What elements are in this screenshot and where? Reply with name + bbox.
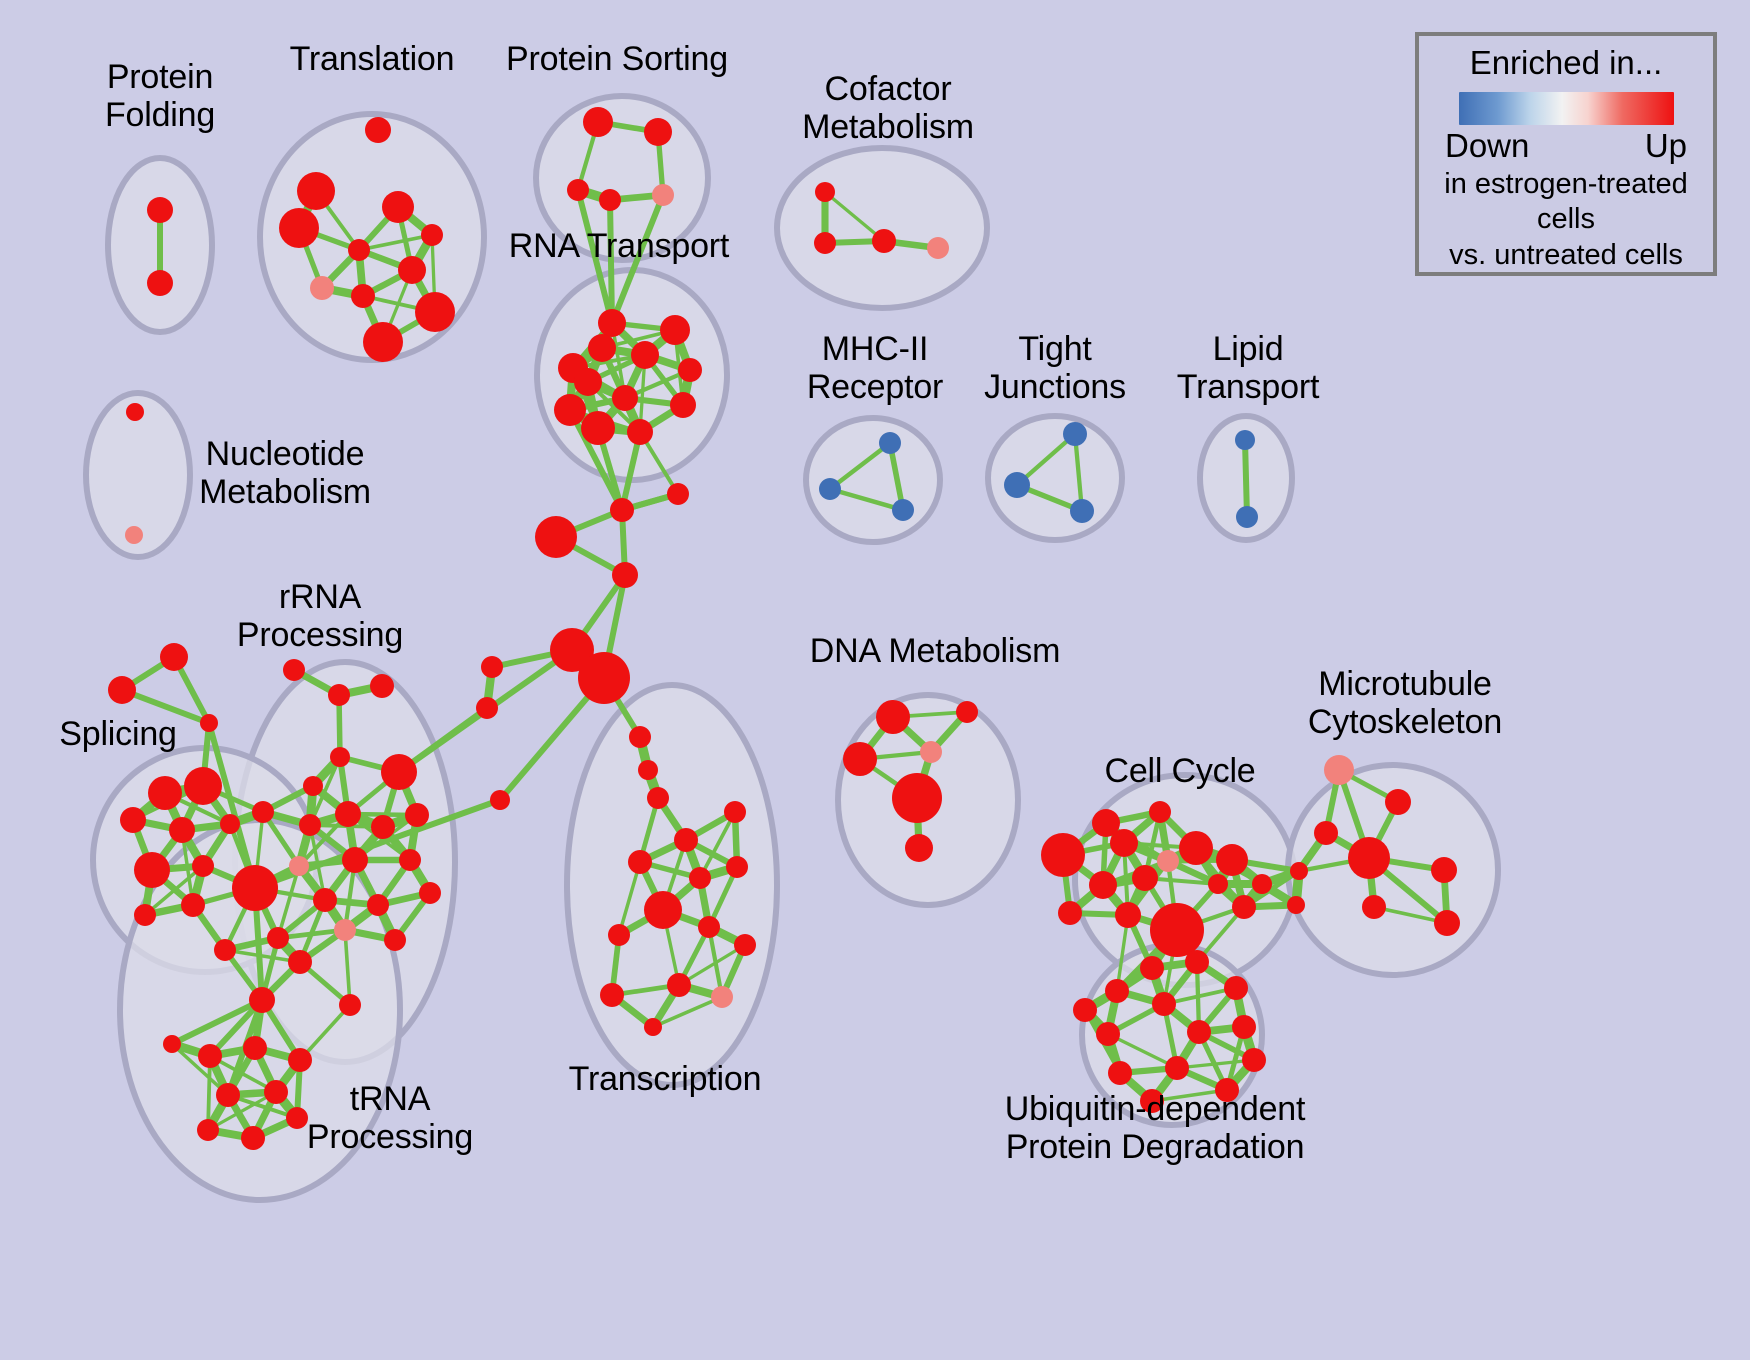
- gene-set-node[interactable]: [627, 419, 653, 445]
- gene-set-node[interactable]: [297, 172, 335, 210]
- gene-set-node[interactable]: [283, 659, 305, 681]
- gene-set-node[interactable]: [398, 256, 426, 284]
- gene-set-node[interactable]: [598, 309, 626, 337]
- gene-set-node[interactable]: [1324, 755, 1354, 785]
- gene-set-node[interactable]: [1362, 895, 1386, 919]
- cluster-label-cofactor-metabolism: Cofactor Metabolism: [753, 70, 1023, 146]
- cluster-label-transcription: Transcription: [525, 1060, 805, 1098]
- cluster-label-protein-folding: Protein Folding: [60, 58, 260, 134]
- gene-set-node[interactable]: [599, 189, 621, 211]
- gene-set-node[interactable]: [1434, 910, 1460, 936]
- gene-set-node[interactable]: [220, 814, 240, 834]
- gene-set-node[interactable]: [335, 801, 361, 827]
- gene-set-node[interactable]: [1235, 430, 1255, 450]
- gene-set-node[interactable]: [160, 643, 188, 671]
- gene-set-node[interactable]: [892, 499, 914, 521]
- network-figure: Protein FoldingTranslationProtein Sortin…: [0, 0, 1750, 1360]
- gene-set-node[interactable]: [956, 701, 978, 723]
- gene-set-node[interactable]: [644, 118, 672, 146]
- cluster-label-rna-transport: RNA Transport: [469, 227, 769, 265]
- gene-set-node[interactable]: [667, 483, 689, 505]
- gene-set-node[interactable]: [1348, 837, 1390, 879]
- gene-set-node[interactable]: [674, 828, 698, 852]
- gene-set-node[interactable]: [126, 403, 144, 421]
- gene-set-node[interactable]: [905, 834, 933, 862]
- gene-set-node[interactable]: [1110, 829, 1138, 857]
- gene-set-node[interactable]: [1115, 902, 1141, 928]
- gene-set-node[interactable]: [1385, 789, 1411, 815]
- gene-set-node[interactable]: [1185, 950, 1209, 974]
- gene-set-node[interactable]: [288, 1048, 312, 1072]
- gene-set-node[interactable]: [698, 916, 720, 938]
- gene-set-node[interactable]: [1140, 956, 1164, 980]
- gene-set-node[interactable]: [288, 950, 312, 974]
- gene-set-node[interactable]: [724, 801, 746, 823]
- gene-set-node[interactable]: [330, 747, 350, 767]
- gene-set-node[interactable]: [184, 767, 222, 805]
- gene-set-node[interactable]: [610, 498, 634, 522]
- legend-color-bar: [1459, 92, 1674, 125]
- gene-set-node[interactable]: [1252, 874, 1272, 894]
- cluster-label-dna-metabolism: DNA Metabolism: [775, 632, 1095, 670]
- gene-set-node[interactable]: [147, 197, 173, 223]
- gene-set-node[interactable]: [1096, 1022, 1120, 1046]
- gene-set-node[interactable]: [339, 994, 361, 1016]
- gene-set-node[interactable]: [334, 919, 356, 941]
- gene-set-node[interactable]: [711, 986, 733, 1008]
- gene-set-node[interactable]: [348, 239, 370, 261]
- gene-set-node[interactable]: [399, 849, 421, 871]
- cluster-label-rrna-processing: rRNA Processing: [195, 578, 445, 654]
- gene-set-node[interactable]: [892, 773, 942, 823]
- gene-set-node[interactable]: [1232, 895, 1256, 919]
- gene-set-node[interactable]: [313, 888, 337, 912]
- gene-set-node[interactable]: [371, 815, 395, 839]
- gene-set-node[interactable]: [1179, 831, 1213, 865]
- legend-high-label: Up: [1645, 127, 1687, 165]
- gene-set-node[interactable]: [678, 358, 702, 382]
- gene-set-node[interactable]: [299, 814, 321, 836]
- gene-set-node[interactable]: [198, 1044, 222, 1068]
- gene-set-node[interactable]: [1208, 874, 1228, 894]
- gene-set-node[interactable]: [303, 776, 323, 796]
- gene-set-node[interactable]: [1242, 1048, 1266, 1072]
- gene-set-node[interactable]: [476, 697, 498, 719]
- gene-set-node[interactable]: [734, 934, 756, 956]
- gene-set-node[interactable]: [819, 478, 841, 500]
- gene-set-node[interactable]: [181, 893, 205, 917]
- gene-set-node[interactable]: [214, 939, 236, 961]
- gene-set-node[interactable]: [583, 107, 613, 137]
- gene-set-node[interactable]: [608, 924, 630, 946]
- gene-set-node[interactable]: [574, 368, 602, 396]
- legend-caption-line-2: vs. untreated cells: [1449, 238, 1683, 272]
- gene-set-node[interactable]: [644, 1018, 662, 1036]
- gene-set-node[interactable]: [310, 276, 334, 300]
- gene-set-node[interactable]: [216, 1083, 240, 1107]
- gene-set-node[interactable]: [638, 760, 658, 780]
- legend-box: Enriched in... Down Up in estrogen-treat…: [1415, 32, 1717, 276]
- gene-set-node[interactable]: [1041, 833, 1085, 877]
- gene-set-node[interactable]: [267, 927, 289, 949]
- gene-set-node[interactable]: [351, 284, 375, 308]
- gene-set-node[interactable]: [927, 237, 949, 259]
- gene-set-node[interactable]: [872, 229, 896, 253]
- gene-set-node[interactable]: [421, 224, 443, 246]
- gene-set-node[interactable]: [1431, 857, 1457, 883]
- gene-set-node[interactable]: [197, 1119, 219, 1141]
- cluster-label-splicing: Splicing: [28, 715, 208, 753]
- gene-set-node[interactable]: [628, 850, 652, 874]
- gene-set-node[interactable]: [252, 801, 274, 823]
- gene-set-node[interactable]: [588, 334, 616, 362]
- gene-set-node[interactable]: [241, 1126, 265, 1150]
- gene-set-node[interactable]: [1236, 506, 1258, 528]
- gene-set-node[interactable]: [647, 787, 669, 809]
- gene-set-node[interactable]: [814, 232, 836, 254]
- gene-set-node[interactable]: [1063, 422, 1087, 446]
- gene-set-node[interactable]: [382, 191, 414, 223]
- cluster-label-lipid-transport: Lipid Transport: [1133, 330, 1363, 406]
- gene-set-node[interactable]: [1152, 992, 1176, 1016]
- gene-set-node[interactable]: [148, 776, 182, 810]
- cluster-label-microtubule-cytoskeleton: Microtubule Cytoskeleton: [1255, 665, 1555, 741]
- gene-set-node[interactable]: [147, 270, 173, 296]
- gene-set-node[interactable]: [1224, 976, 1248, 1000]
- gene-set-node[interactable]: [644, 891, 682, 929]
- cluster-label-translation: Translation: [242, 40, 502, 78]
- gene-set-node[interactable]: [125, 526, 143, 544]
- gene-set-node[interactable]: [920, 741, 942, 763]
- gene-set-node[interactable]: [660, 315, 690, 345]
- gene-set-node[interactable]: [367, 894, 389, 916]
- gene-set-node[interactable]: [1165, 1056, 1189, 1080]
- gene-set-node[interactable]: [1058, 901, 1082, 925]
- gene-set-node[interactable]: [363, 322, 403, 362]
- gene-set-node[interactable]: [365, 117, 391, 143]
- gene-set-node[interactable]: [1314, 821, 1338, 845]
- gene-set-node[interactable]: [689, 867, 711, 889]
- gene-set-node[interactable]: [415, 292, 455, 332]
- gene-set-node[interactable]: [612, 385, 638, 411]
- gene-set-node[interactable]: [600, 983, 624, 1007]
- gene-set-node[interactable]: [876, 700, 910, 734]
- gene-set-node[interactable]: [1108, 1061, 1132, 1085]
- gene-set-node[interactable]: [192, 855, 214, 877]
- gene-set-node[interactable]: [1187, 1020, 1211, 1044]
- gene-set-node[interactable]: [843, 742, 877, 776]
- gene-set-node[interactable]: [370, 674, 394, 698]
- gene-set-node[interactable]: [879, 432, 901, 454]
- gene-set-node[interactable]: [726, 856, 748, 878]
- gene-set-node[interactable]: [1089, 871, 1117, 899]
- gene-set-node[interactable]: [667, 973, 691, 997]
- gene-set-node[interactable]: [279, 208, 319, 248]
- gene-set-node[interactable]: [1132, 865, 1158, 891]
- gene-set-node[interactable]: [232, 865, 278, 911]
- gene-set-node[interactable]: [581, 411, 615, 445]
- gene-set-node[interactable]: [815, 182, 835, 202]
- gene-set-node[interactable]: [342, 847, 368, 873]
- gene-set-node[interactable]: [289, 856, 309, 876]
- gene-set-node[interactable]: [134, 852, 170, 888]
- gene-set-node[interactable]: [1216, 844, 1248, 876]
- gene-set-node[interactable]: [328, 684, 350, 706]
- gene-set-node[interactable]: [1004, 472, 1030, 498]
- gene-set-node[interactable]: [419, 882, 441, 904]
- gene-set-node[interactable]: [163, 1035, 181, 1053]
- gene-set-node[interactable]: [554, 394, 586, 426]
- cluster-label-nucleotide-metabolism: Nucleotide Metabolism: [145, 435, 425, 511]
- gene-set-node[interactable]: [481, 656, 503, 678]
- gene-set-node[interactable]: [567, 179, 589, 201]
- gene-set-node[interactable]: [381, 754, 417, 790]
- gene-set-node[interactable]: [243, 1036, 267, 1060]
- gene-set-node[interactable]: [629, 726, 651, 748]
- legend-low-label: Down: [1445, 127, 1529, 165]
- gene-set-node[interactable]: [535, 516, 577, 558]
- gene-set-node[interactable]: [631, 341, 659, 369]
- gene-set-node[interactable]: [670, 392, 696, 418]
- gene-set-node[interactable]: [405, 803, 429, 827]
- gene-set-node[interactable]: [384, 929, 406, 951]
- legend-title: Enriched in...: [1470, 44, 1663, 82]
- gene-set-node[interactable]: [1232, 1015, 1256, 1039]
- gene-set-node[interactable]: [1149, 801, 1171, 823]
- gene-set-node[interactable]: [134, 904, 156, 926]
- legend-caption-line-1: in estrogen-treated cells: [1419, 167, 1713, 235]
- gene-set-node[interactable]: [652, 184, 674, 206]
- gene-set-node[interactable]: [108, 676, 136, 704]
- gene-set-node[interactable]: [1157, 850, 1179, 872]
- gene-set-node[interactable]: [1105, 979, 1129, 1003]
- cluster-label-trna-processing: tRNA Processing: [270, 1080, 510, 1156]
- gene-set-node[interactable]: [120, 807, 146, 833]
- edge: [1245, 440, 1247, 517]
- gene-set-node[interactable]: [249, 987, 275, 1013]
- gene-set-node[interactable]: [578, 652, 630, 704]
- gene-set-node[interactable]: [1073, 998, 1097, 1022]
- cluster-label-protein-sorting: Protein Sorting: [467, 40, 767, 78]
- cluster-label-ubiquitin-protein-degradation: Ubiquitin-dependent Protein Degradation: [965, 1090, 1345, 1166]
- gene-set-node[interactable]: [612, 562, 638, 588]
- gene-set-node[interactable]: [1290, 862, 1308, 880]
- gene-set-node[interactable]: [1070, 499, 1094, 523]
- cluster-ellipse-cofactor-metabolism: [777, 148, 987, 308]
- gene-set-node[interactable]: [490, 790, 510, 810]
- gene-set-node[interactable]: [1150, 903, 1204, 957]
- gene-set-node[interactable]: [169, 817, 195, 843]
- cluster-label-cell-cycle: Cell Cycle: [1070, 752, 1290, 790]
- gene-set-node[interactable]: [1287, 896, 1305, 914]
